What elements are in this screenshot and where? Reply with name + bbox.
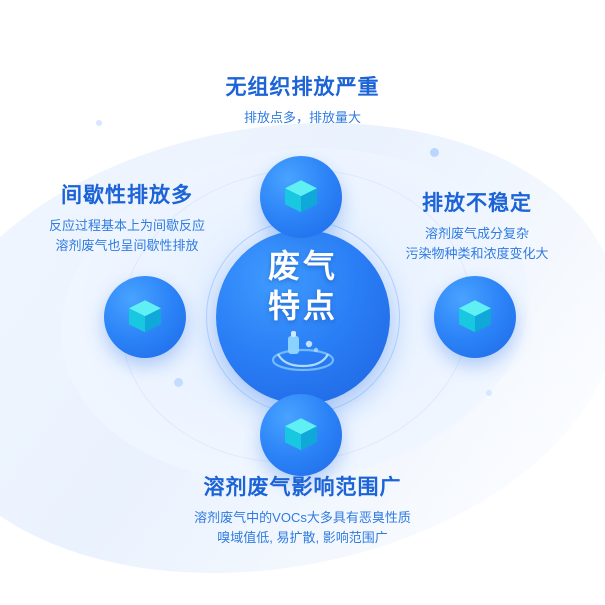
- cube-icon: [125, 296, 165, 336]
- node-bubble-left[interactable]: [104, 276, 186, 358]
- label-left-title: 间歇性排放多: [2, 182, 252, 210]
- label-left-desc-line2: 溶剂废气也呈间歇性排放: [2, 236, 252, 256]
- label-bottom-desc-line2: 嗅域值低, 易扩散, 影响范围广: [0, 528, 605, 548]
- label-bottom: 溶剂废气影响范围广 溶剂废气中的VOCs大多具有恶臭性质 嗅域值低, 易扩散, …: [0, 474, 605, 548]
- center-title-line2: 特点: [216, 286, 390, 326]
- hand-holding-gas-icon: [268, 330, 338, 374]
- decorative-dot: [174, 378, 183, 387]
- label-left: 间歇性排放多 反应过程基本上为间歇反应 溶剂废气也呈间歇性排放: [2, 182, 252, 256]
- cube-icon: [455, 296, 495, 336]
- decorative-dot: [430, 148, 439, 157]
- label-right: 排放不稳定 溶剂废气成分复杂 污染物种类和浓度变化大: [352, 190, 602, 264]
- label-right-title: 排放不稳定: [352, 190, 602, 218]
- decorative-dot: [486, 390, 492, 396]
- node-bubble-right[interactable]: [434, 276, 516, 358]
- label-bottom-title: 溶剂废气影响范围广: [0, 474, 605, 502]
- label-top: 无组织排放严重 排放点多，排放量大: [0, 74, 605, 128]
- label-right-desc-line1: 溶剂废气成分复杂: [352, 224, 602, 244]
- label-bottom-desc-line1: 溶剂废气中的VOCs大多具有恶臭性质: [0, 508, 605, 528]
- label-left-desc-line1: 反应过程基本上为间歇反应: [2, 216, 252, 236]
- label-top-title: 无组织排放严重: [0, 74, 605, 102]
- infographic-canvas: 废气 特点: [0, 0, 605, 605]
- node-bubble-top[interactable]: [260, 156, 342, 238]
- cube-icon: [281, 176, 321, 216]
- node-bubble-bottom[interactable]: [260, 394, 342, 476]
- cube-icon: [281, 414, 321, 454]
- label-right-desc-line2: 污染物种类和浓度变化大: [352, 244, 602, 264]
- label-top-desc-line1: 排放点多，排放量大: [0, 108, 605, 128]
